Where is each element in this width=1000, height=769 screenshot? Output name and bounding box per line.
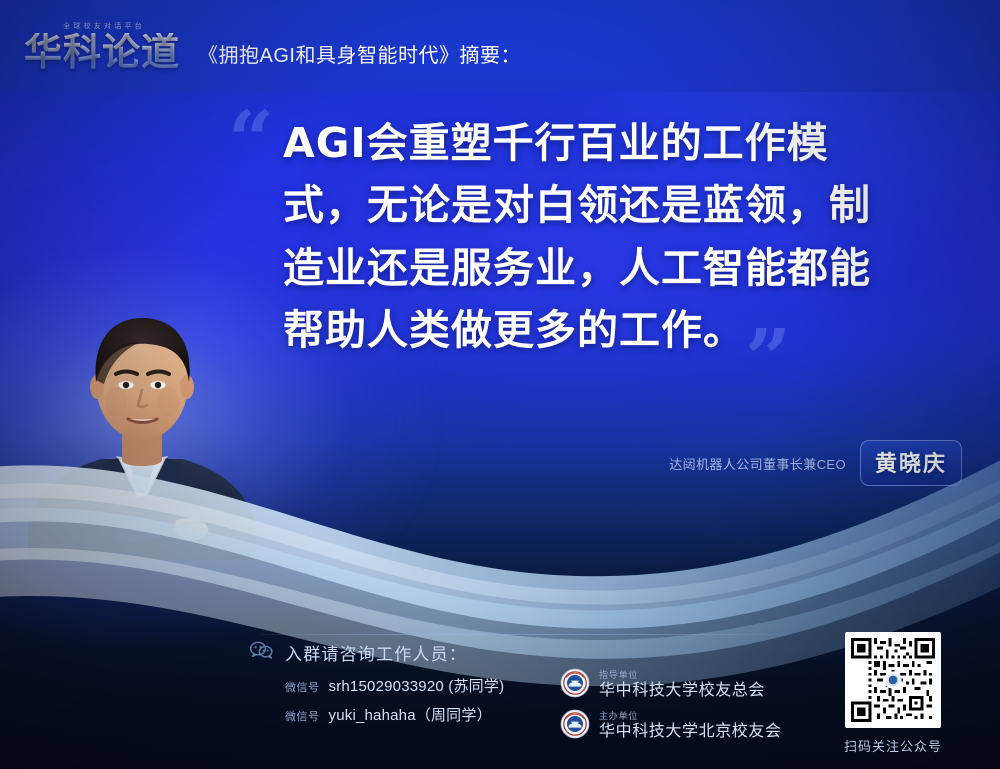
organization-kind: 指导单位 xyxy=(599,671,765,680)
wechat-icon xyxy=(250,641,273,664)
logo-tagline: 全球校友对话平台 xyxy=(63,21,145,31)
qr-caption: 扫码关注公众号 xyxy=(838,736,948,755)
contact-label: 微信号 xyxy=(285,708,320,724)
header-bar: 全球校友对话平台 华科论道 《拥抱AGI和具身智能时代》摘要： xyxy=(0,0,1000,92)
organization-row: 指导单位 华中科技大学校友总会 xyxy=(560,668,782,703)
logo-wordmark: 华科论道 xyxy=(24,33,180,71)
organization-name: 华中科技大学校友总会 xyxy=(599,683,765,700)
attribution: 达闼机器人公司董事长兼CEO 黄晓庆 xyxy=(669,440,962,486)
brand-logo[interactable]: 全球校友对话平台 华科论道 xyxy=(24,21,180,71)
organization-name: 华中科技大学北京校友会 xyxy=(599,724,782,741)
speaker-role: 达闼机器人公司董事长兼CEO xyxy=(669,454,846,473)
quote-line: 式，无论是对白领还是蓝领，制 xyxy=(283,174,943,236)
organizations-section: 指导单位 华中科技大学校友总会 主办单位 华中科技大学北京校友会 xyxy=(560,668,782,750)
contact-label: 微信号 xyxy=(285,679,320,695)
organization-row: 主办单位 华中科技大学北京校友会 xyxy=(560,709,782,744)
quote-line: AGI会重塑千行百业的工作模 xyxy=(283,112,943,174)
quote-close-mark: ” xyxy=(745,318,791,398)
contact-heading-row: 入群请咨询工作人员： xyxy=(250,640,580,665)
contact-row[interactable]: 微信号 yuki_hahaha（周同学） xyxy=(285,704,580,725)
page-title: 《拥抱AGI和具身智能时代》摘要： xyxy=(198,39,521,68)
hust-seal-icon xyxy=(560,668,590,703)
contact-value: yuki_hahaha（周同学） xyxy=(329,704,492,725)
quote-line: 造业还是服务业，人工智能都能 xyxy=(283,237,943,299)
speaker-name-badge: 黄晓庆 xyxy=(860,440,962,486)
quote-text: AGI会重塑千行百业的工作模 式，无论是对白领还是蓝领，制 造业还是服务业，人工… xyxy=(283,112,943,361)
qr-code-svg xyxy=(851,638,935,722)
qr-section: 扫码关注公众号 xyxy=(838,632,948,755)
contact-row[interactable]: 微信号 srh15029033920 (苏同学) xyxy=(285,675,580,696)
organization-text: 主办单位 华中科技大学北京校友会 xyxy=(599,712,782,740)
organization-kind: 主办单位 xyxy=(599,712,782,721)
speaker-portrait xyxy=(24,292,260,560)
hust-seal-icon xyxy=(560,709,590,744)
contact-value: srh15029033920 (苏同学) xyxy=(329,675,505,696)
contact-section: 入群请咨询工作人员： 微信号 srh15029033920 (苏同学) 微信号 … xyxy=(250,640,580,733)
poster-root: 全球校友对话平台 华科论道 《拥抱AGI和具身智能时代》摘要： xyxy=(0,0,1000,769)
contact-heading: 入群请咨询工作人员： xyxy=(285,640,467,665)
qr-code-image[interactable] xyxy=(845,632,941,728)
footer-divider xyxy=(260,634,785,635)
quote-open-mark: “ xyxy=(228,100,274,180)
portrait-illustration xyxy=(24,292,260,560)
organization-text: 指导单位 华中科技大学校友总会 xyxy=(599,671,765,699)
quote-line: 帮助人类做更多的工作。 xyxy=(283,299,943,361)
